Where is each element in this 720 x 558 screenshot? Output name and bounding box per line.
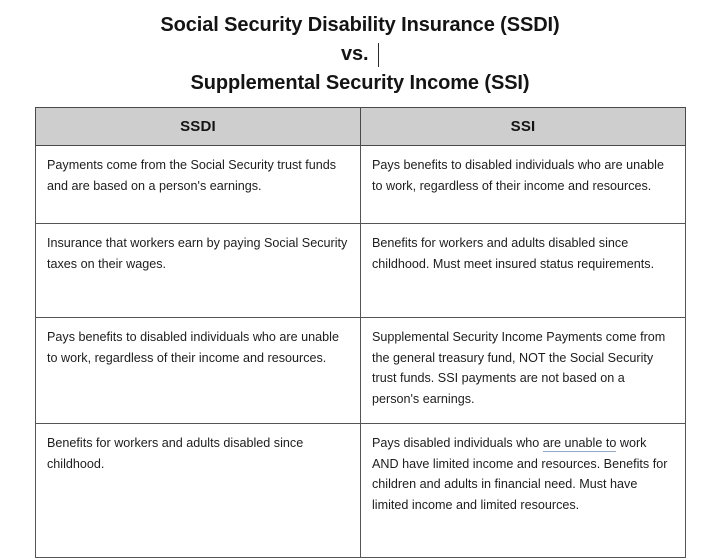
column-header-ssi: SSI <box>361 108 686 146</box>
cell-ssdi-2: Insurance that workers earn by paying So… <box>36 224 361 318</box>
table-row: Pays benefits to disabled individuals wh… <box>36 318 686 424</box>
cell-ssi-1: Pays benefits to disabled individuals wh… <box>361 146 686 224</box>
title-line-1: Social Security Disability Insurance (SS… <box>0 11 720 40</box>
cell-ssi-4-underlined-phrase[interactable]: are unable to <box>543 436 617 452</box>
cell-ssdi-1: Payments come from the Social Security t… <box>36 146 361 224</box>
table-header: SSDI SSI <box>36 108 686 146</box>
page-title: Social Security Disability Insurance (SS… <box>0 0 720 98</box>
document-page: Social Security Disability Insurance (SS… <box>0 0 720 557</box>
title-line-3: Supplemental Security Income (SSI) <box>0 69 720 98</box>
cell-ssdi-3: Pays benefits to disabled individuals wh… <box>36 318 361 424</box>
table-body: Payments come from the Social Security t… <box>36 146 686 558</box>
table-row: Insurance that workers earn by paying So… <box>36 224 686 318</box>
table-row: Payments come from the Social Security t… <box>36 146 686 224</box>
cell-ssi-2: Benefits for workers and adults disabled… <box>361 224 686 318</box>
comparison-table: SSDI SSI Payments come from the Social S… <box>35 107 686 558</box>
column-header-ssdi: SSDI <box>36 108 361 146</box>
table-row: Benefits for workers and adults disabled… <box>36 424 686 558</box>
cell-ssi-4-text-before: Pays disabled individuals who <box>372 436 543 450</box>
table-header-row: SSDI SSI <box>36 108 686 146</box>
title-line-2: vs. <box>341 40 369 69</box>
title-line-2-row: vs. <box>0 40 720 69</box>
comparison-table-wrapper: SSDI SSI Payments come from the Social S… <box>35 107 685 558</box>
cell-ssi-4: Pays disabled individuals who are unable… <box>361 424 686 558</box>
cell-ssi-3: Supplemental Security Income Payments co… <box>361 318 686 424</box>
text-cursor-caret <box>378 43 380 67</box>
cell-ssdi-4: Benefits for workers and adults disabled… <box>36 424 361 558</box>
